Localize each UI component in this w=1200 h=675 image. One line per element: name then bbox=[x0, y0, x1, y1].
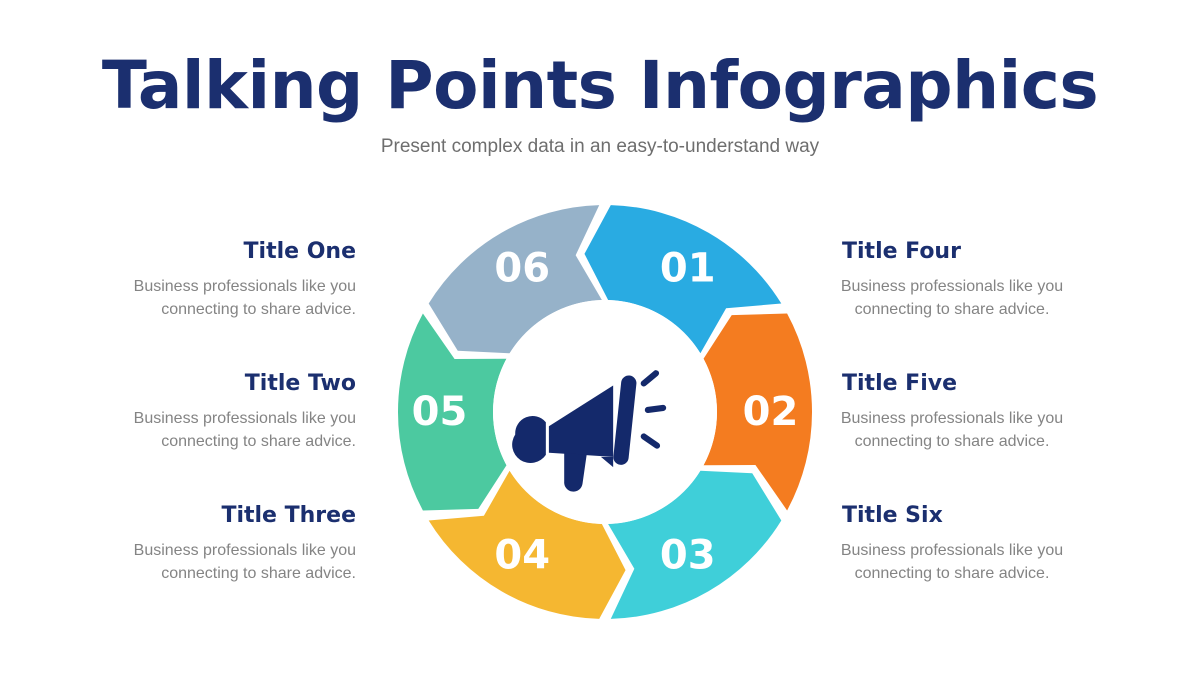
list-item-title-six[interactable]: Title Six Business professionals like yo… bbox=[840, 502, 1090, 585]
segment-number-06: 06 bbox=[494, 246, 550, 292]
item-description: Business professionals like you connecti… bbox=[840, 275, 1064, 321]
page-subtitle: Present complex data in an easy-to-under… bbox=[0, 134, 1200, 160]
list-item-title-three[interactable]: Title Three Business professionals like … bbox=[106, 502, 356, 585]
cycle-diagram-svg: 010203040506 bbox=[398, 205, 812, 619]
cycle-diagram: 010203040506 bbox=[398, 205, 812, 619]
item-description: Business professionals like you connecti… bbox=[106, 407, 356, 453]
list-item-title-one[interactable]: Title One Business professionals like yo… bbox=[106, 238, 356, 321]
segment-number-04: 04 bbox=[494, 532, 550, 578]
item-title: Title Five bbox=[842, 370, 1090, 398]
segment-number-01: 01 bbox=[660, 246, 716, 292]
list-item-title-five[interactable]: Title Five Business professionals like y… bbox=[840, 370, 1090, 453]
item-title: Title Three bbox=[106, 502, 356, 530]
item-description: Business professionals like you connecti… bbox=[106, 275, 356, 321]
segment-number-05: 05 bbox=[412, 389, 468, 435]
slide-header: Talking Points Infographics Present comp… bbox=[0, 48, 1200, 160]
item-title: Title One bbox=[106, 238, 356, 266]
segment-number-03: 03 bbox=[660, 532, 716, 578]
item-description: Business professionals like you connecti… bbox=[106, 539, 356, 585]
list-item-title-two[interactable]: Title Two Business professionals like yo… bbox=[106, 370, 356, 453]
item-description: Business professionals like you connecti… bbox=[840, 407, 1064, 453]
list-item-title-four[interactable]: Title Four Business professionals like y… bbox=[840, 238, 1090, 321]
item-title: Title Four bbox=[842, 238, 1090, 266]
item-description: Business professionals like you connecti… bbox=[840, 539, 1064, 585]
page-title: Talking Points Infographics bbox=[0, 48, 1200, 124]
segment-number-02: 02 bbox=[743, 389, 799, 435]
item-title: Title Two bbox=[106, 370, 356, 398]
megaphone-wave-mid bbox=[648, 408, 663, 410]
slide-canvas: Talking Points Infographics Present comp… bbox=[0, 0, 1200, 675]
item-title: Title Six bbox=[842, 502, 1090, 530]
